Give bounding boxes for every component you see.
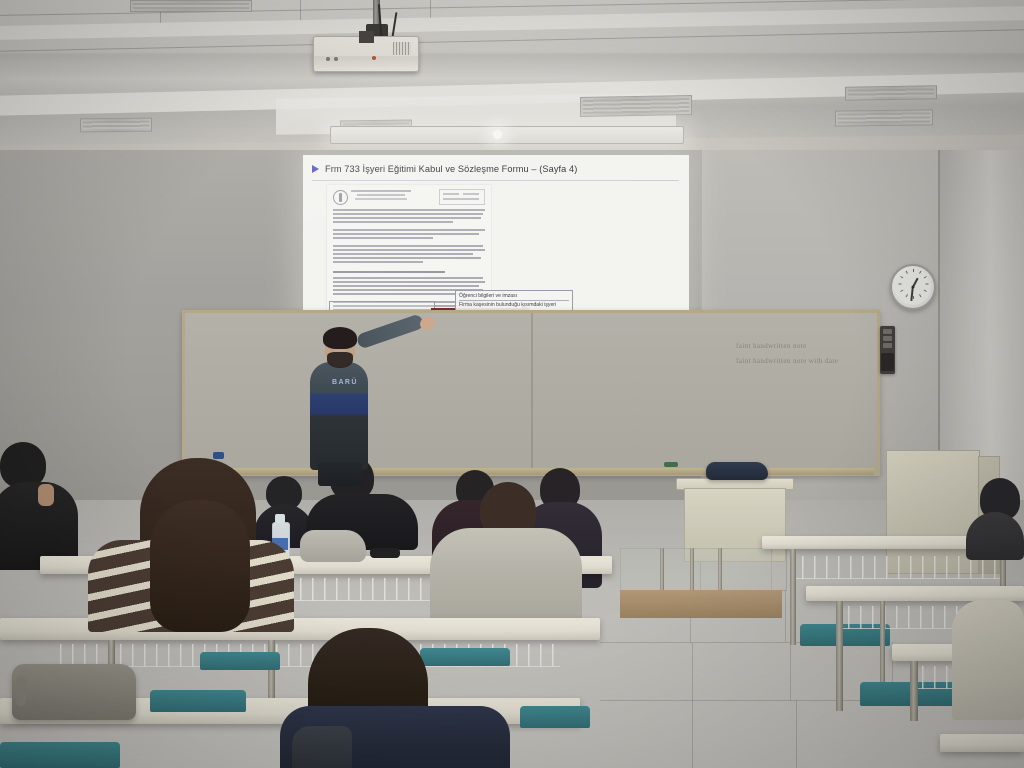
dark-bag xyxy=(706,462,768,480)
backpack-strap xyxy=(16,676,26,706)
air-vent xyxy=(130,0,252,12)
whiteboard-handwriting-line-1: faint handwritten note xyxy=(736,342,807,350)
seat[interactable] xyxy=(420,648,510,666)
air-vent xyxy=(580,95,692,117)
whiteboard xyxy=(182,310,880,476)
classroom-photo: Frm 733 İşyeri Eğitimi Kabul ve Sözleşme… xyxy=(0,0,1024,768)
wall-clock xyxy=(890,264,936,310)
grey-backpack xyxy=(12,664,136,720)
student-collar xyxy=(292,726,352,768)
dark-object xyxy=(370,548,400,558)
whiteboard-marker xyxy=(213,452,224,459)
control-panel-lock[interactable] xyxy=(881,353,894,371)
slide-bullet-triangle-icon xyxy=(312,165,319,173)
low-wood-cabinet xyxy=(620,590,782,618)
seat[interactable] xyxy=(200,652,280,670)
student-hand xyxy=(38,484,54,506)
form-header-box xyxy=(439,189,485,205)
air-vent xyxy=(835,109,933,126)
university-logo-icon xyxy=(333,190,348,205)
empty-desk xyxy=(940,734,1024,752)
whiteboard-marker xyxy=(664,462,678,467)
student-body xyxy=(952,600,1024,720)
presenter-beard xyxy=(327,352,353,368)
projector-vent xyxy=(393,42,411,55)
student-hair-front xyxy=(150,500,250,632)
seat[interactable] xyxy=(0,742,120,768)
callout-line-1: Öğrenci bilgileri ve imzası xyxy=(459,293,569,301)
air-vent xyxy=(845,85,937,101)
fluorescent-light xyxy=(330,126,684,144)
empty-desk xyxy=(806,586,1024,601)
ceiling-projector xyxy=(313,36,419,72)
slide-title: Frm 733 İşyeri Eğitimi Kabul ve Sözleşme… xyxy=(325,164,677,174)
seat[interactable] xyxy=(520,706,590,728)
whiteboard-handwriting-line-2: faint handwritten note with date xyxy=(736,357,838,365)
water-bottle-cap xyxy=(275,514,285,523)
air-vent xyxy=(80,118,152,133)
whiteboard-marker-tray xyxy=(182,468,874,475)
slide-title-rule xyxy=(312,180,679,181)
glass-partition xyxy=(620,548,772,592)
seat[interactable] xyxy=(150,690,246,712)
projector-lens-housing xyxy=(359,31,374,43)
ceiling xyxy=(0,0,1024,152)
presenter-legs xyxy=(318,462,362,486)
presenter-sweatshirt-text: BARÜ xyxy=(332,379,358,386)
wall-control-panel[interactable] xyxy=(880,326,895,374)
grey-jacket xyxy=(300,530,366,562)
presenter-hair xyxy=(323,327,357,349)
